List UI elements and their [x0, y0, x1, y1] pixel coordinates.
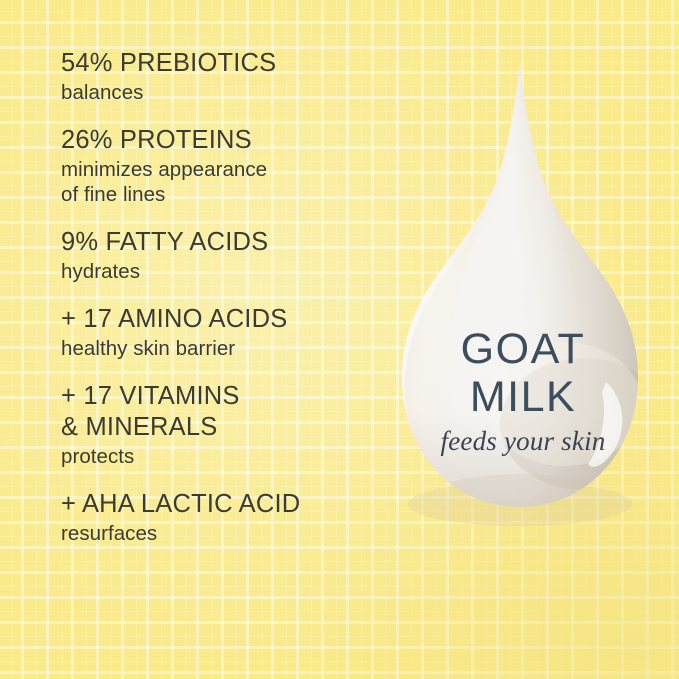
benefit-title: 9% FATTY ACIDS: [61, 227, 391, 258]
benefit-item: + 17 VITAMINS & MINERALS protects: [61, 381, 391, 469]
benefits-list: 54% PREBIOTICS balances 26% PROTEINS min…: [61, 48, 391, 546]
benefit-title: 54% PREBIOTICS: [61, 48, 391, 79]
benefit-title: + 17 VITAMINS & MINERALS: [61, 381, 391, 443]
benefit-item: 54% PREBIOTICS balances: [61, 48, 391, 105]
benefit-description: hydrates: [61, 259, 391, 284]
benefit-title: 26% PROTEINS: [61, 125, 391, 156]
benefit-item: + AHA LACTIC ACID resurfaces: [61, 489, 391, 546]
milk-droplet-poster: 54% PREBIOTICS balances 26% PROTEINS min…: [0, 0, 679, 679]
benefit-description: resurfaces: [61, 521, 391, 546]
milk-droplet-illustration: [378, 52, 668, 552]
benefit-description: healthy skin barrier: [61, 336, 391, 361]
benefit-item: 9% FATTY ACIDS hydrates: [61, 227, 391, 284]
benefit-title: + AHA LACTIC ACID: [61, 489, 391, 520]
benefit-item: 26% PROTEINS minimizes appearance of fin…: [61, 125, 391, 207]
droplet-body: [378, 52, 668, 552]
benefit-description: protects: [61, 444, 391, 469]
benefit-title: + 17 AMINO ACIDS: [61, 304, 391, 335]
benefit-description: balances: [61, 80, 391, 105]
benefit-description: minimizes appearance of fine lines: [61, 157, 391, 207]
benefit-item: + 17 AMINO ACIDS healthy skin barrier: [61, 304, 391, 361]
